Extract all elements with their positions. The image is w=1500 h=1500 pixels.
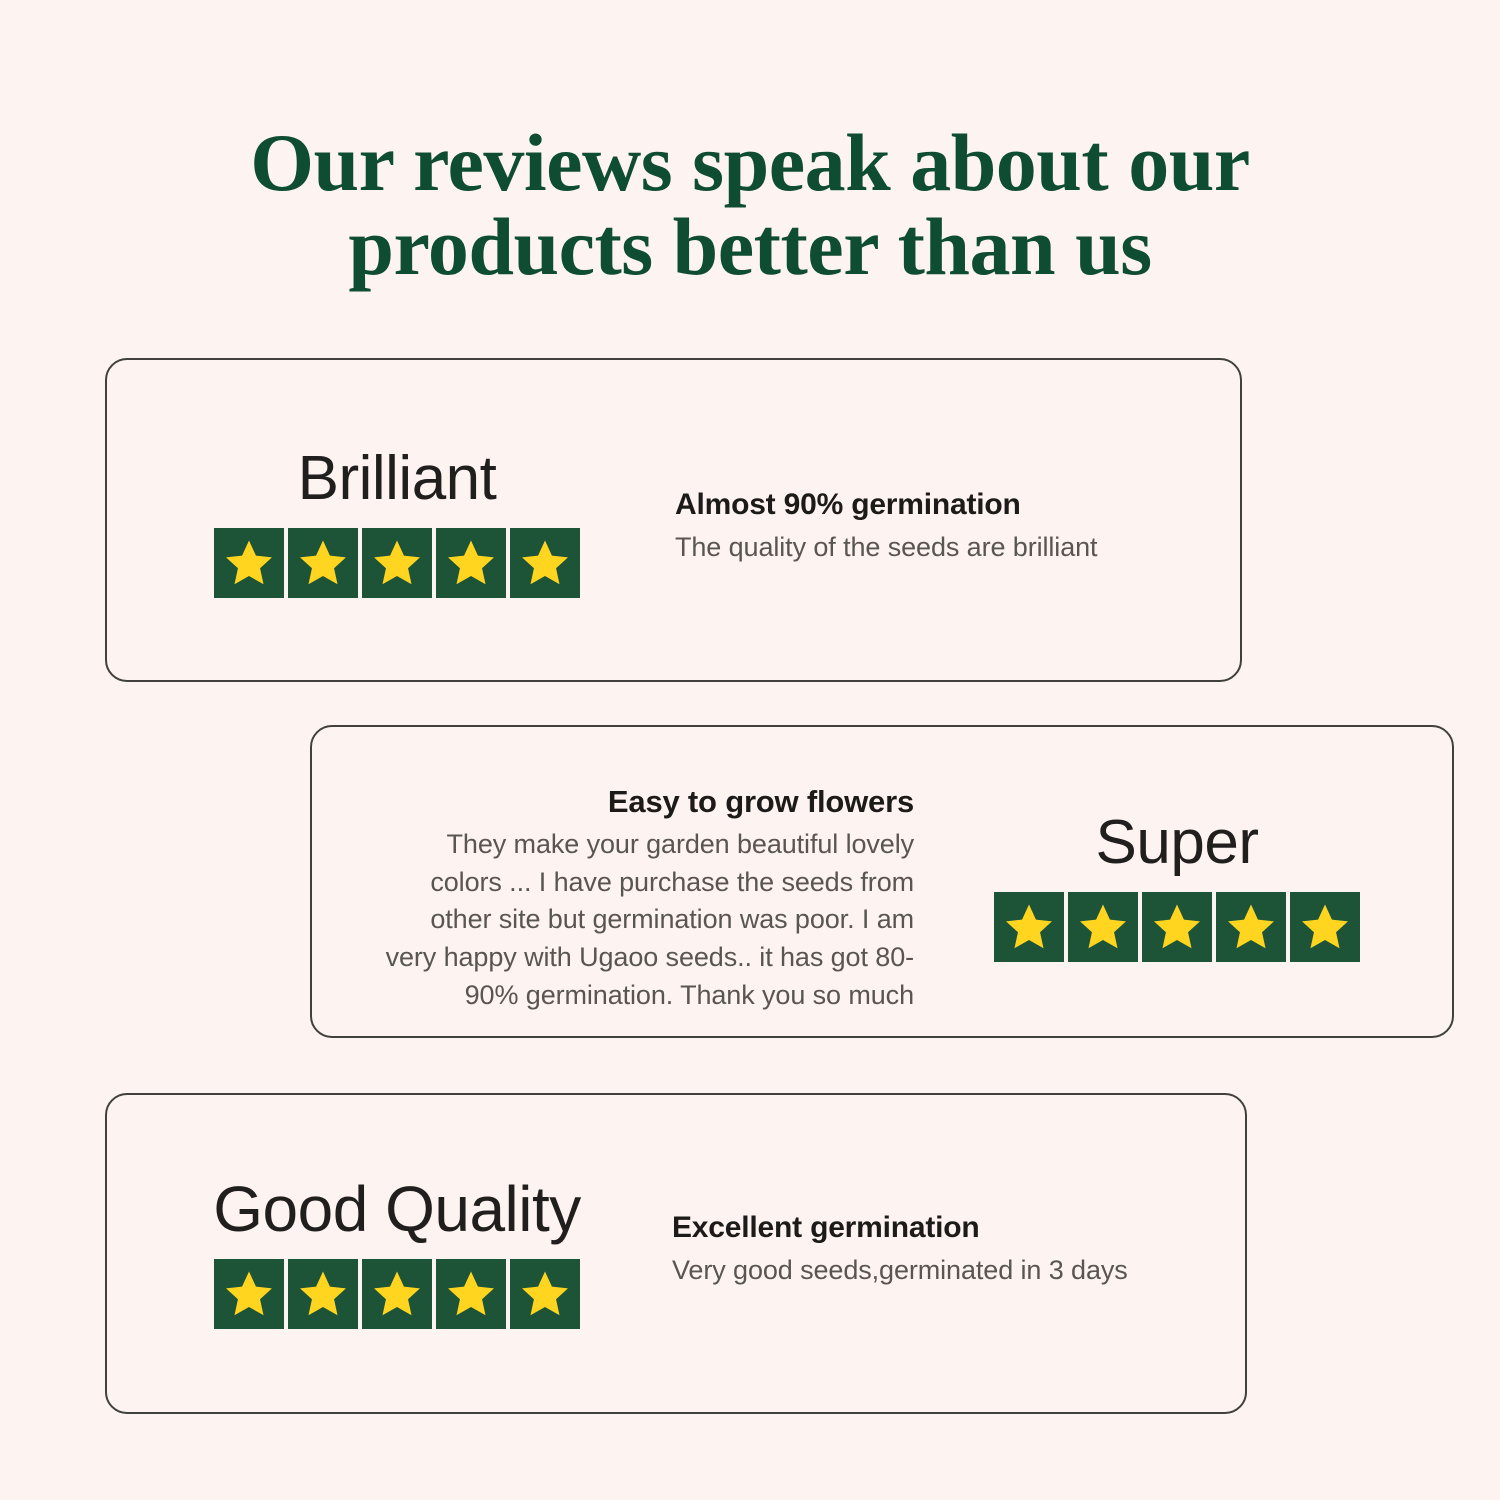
star-icon (994, 892, 1064, 962)
rating-block: Good Quality (182, 1177, 612, 1329)
review-body: They make your garden beautiful lovely c… (384, 826, 914, 1015)
star-icon (1290, 892, 1360, 962)
review-text-block: Easy to grow flowers They make your gard… (384, 783, 914, 1015)
star-icon (1142, 892, 1212, 962)
rating-block: Super (987, 812, 1367, 962)
star-icon (1216, 892, 1286, 962)
rating-block: Brilliant (207, 448, 587, 598)
star-icon (436, 528, 506, 598)
rating-label: Super (987, 812, 1367, 874)
star-rating (207, 528, 587, 598)
star-icon (510, 528, 580, 598)
review-title: Easy to grow flowers (384, 783, 914, 822)
review-title: Almost 90% germination (675, 486, 1195, 524)
review-card: Brilliant Almost 90% germination The qua… (105, 358, 1242, 682)
star-icon (1068, 892, 1138, 962)
star-icon (214, 1259, 284, 1329)
star-icon (288, 1259, 358, 1329)
star-icon (362, 1259, 432, 1329)
rating-label: Good Quality (182, 1177, 612, 1241)
star-icon (362, 528, 432, 598)
page-title: Our reviews speak about our products bet… (0, 121, 1500, 290)
star-rating (987, 892, 1367, 962)
star-rating (182, 1259, 612, 1329)
star-icon (510, 1259, 580, 1329)
star-icon (436, 1259, 506, 1329)
review-text-block: Almost 90% germination The quality of th… (675, 486, 1195, 564)
review-title: Excellent germination (672, 1209, 1212, 1247)
review-text-block: Excellent germination Very good seeds,ge… (672, 1209, 1212, 1287)
rating-label: Brilliant (207, 448, 587, 510)
review-card: Easy to grow flowers They make your gard… (310, 725, 1454, 1038)
star-icon (288, 528, 358, 598)
star-icon (214, 528, 284, 598)
review-card: Good Quality Excellent germination Very … (105, 1093, 1247, 1414)
review-body: The quality of the seeds are brilliant (675, 530, 1195, 564)
review-body: Very good seeds,germinated in 3 days (672, 1253, 1212, 1287)
